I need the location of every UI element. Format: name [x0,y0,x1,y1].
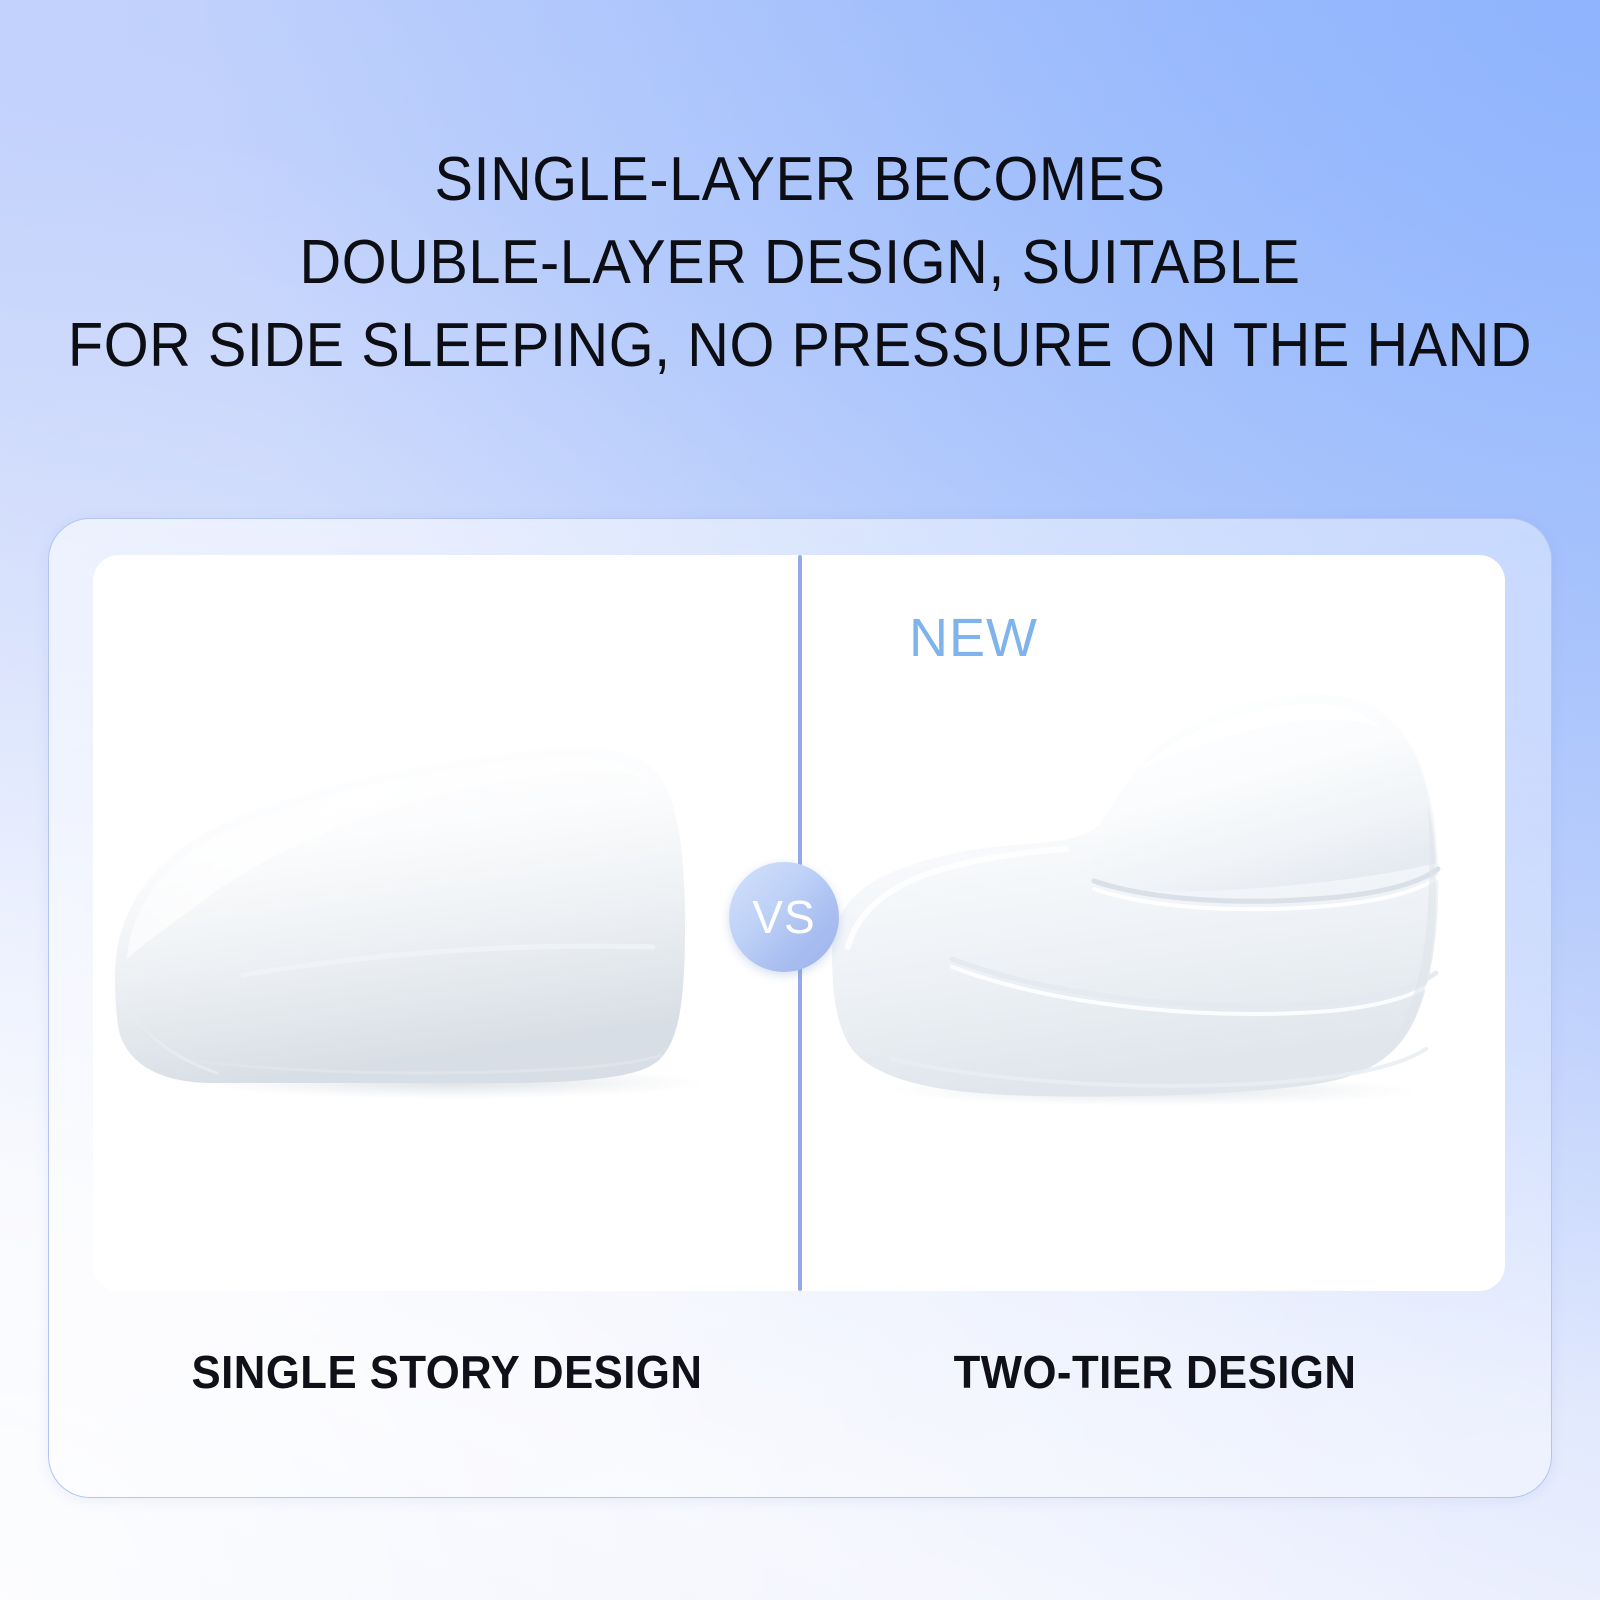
headline-line-2: DOUBLE-LAYER DESIGN, SUITABLE [56,221,1544,304]
headline-line-3: FOR SIDE SLEEPING, NO PRESSURE ON THE HA… [56,304,1544,387]
headline-line-1: SINGLE-LAYER BECOMES [56,138,1544,221]
caption-two-tier: TWO-TIER DESIGN [819,1337,1492,1407]
caption-single-story: SINGLE STORY DESIGN [111,1337,784,1407]
new-badge: NEW [909,607,1038,669]
vs-badge-label: VS [752,890,815,944]
single-layer-pillow-image [93,555,798,1291]
infographic-canvas: SINGLE-LAYER BECOMES DOUBLE-LAYER DESIGN… [0,0,1600,1600]
comparison-right-pane: NEW [802,555,1505,1291]
page-title: SINGLE-LAYER BECOMES DOUBLE-LAYER DESIGN… [56,138,1544,387]
comparison-left-pane [93,555,798,1291]
vs-badge: VS [729,862,839,972]
two-tier-pillow-image [802,555,1505,1291]
comparison-card: NEW [48,518,1552,1498]
